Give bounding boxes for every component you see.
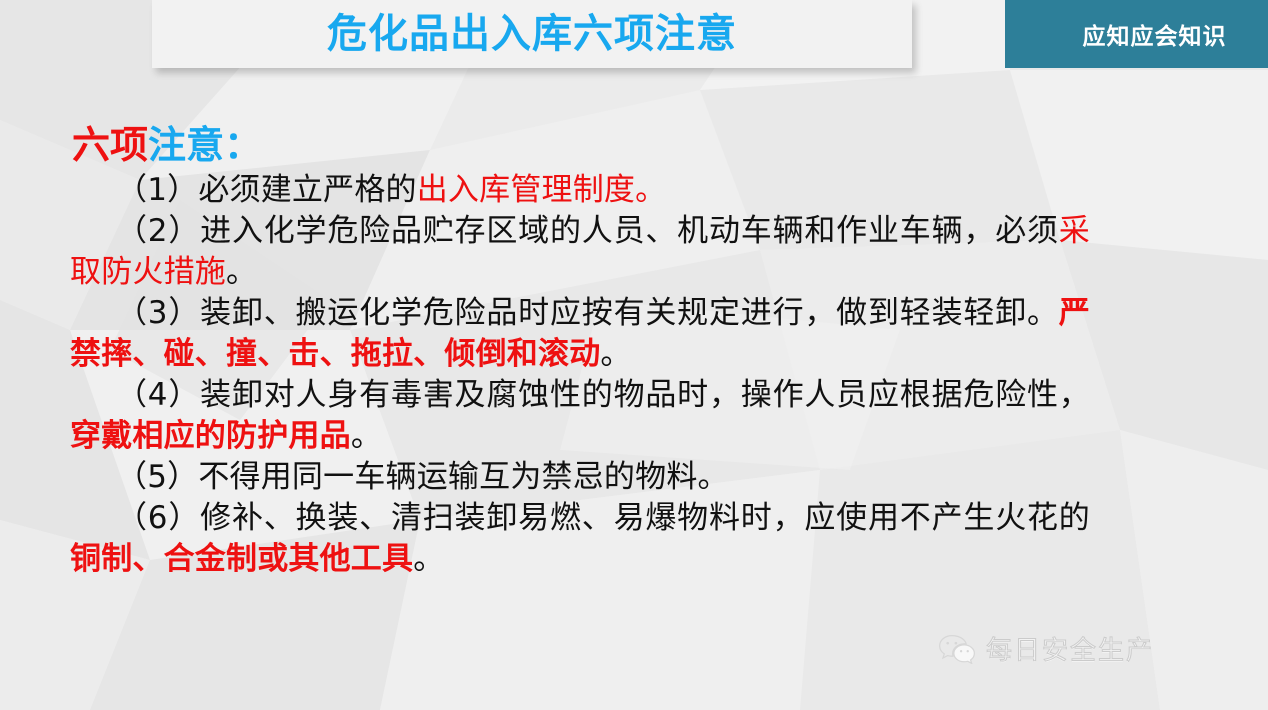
notice-item: （1）必须建立严格的出入库管理制度。 [70,170,1090,211]
section-heading: 六项注意： [72,122,1090,168]
watermark: 每日安全生产 [938,630,1154,667]
notice-item-text: 。 [413,541,444,577]
page-title: 危化品出入库六项注意 [327,14,737,54]
slide-body: 六项注意： （1）必须建立严格的出入库管理制度。（2）进入化学危险品贮存区域的人… [70,122,1090,580]
wechat-icon [938,634,976,664]
notice-item: （4）装卸对人身有毒害及腐蚀性的物品时，操作人员应根据危险性，穿戴相应的防护用品… [70,375,1090,457]
notice-item-number: （5） [116,459,198,495]
notice-item-text: 装卸、搬运化学危险品时应按有关规定进行，做到轻装轻卸。 [200,295,1059,331]
section-heading-blue: 注意： [148,123,262,167]
notice-item-text: 。 [600,336,631,372]
notice-item-text: 出入库管理制度。 [417,172,667,208]
notice-item-text: 装卸对人身有毒害及腐蚀性的物品时，操作人员应根据危险性， [200,377,1090,413]
notice-item-text: 进入化学危险品贮存区域的人员、机动车辆和作业车辆，必须 [200,213,1059,249]
watermark-label: 每日安全生产 [986,630,1154,667]
notice-item-number: （3） [116,295,200,331]
notice-item-number: （2） [116,213,200,249]
notice-item-text: 。 [351,418,382,454]
notice-item-text: 铜制、合金制或其他工具 [70,541,413,577]
notice-item-number: （6） [116,500,200,536]
notice-item: （3）装卸、搬运化学危险品时应按有关规定进行，做到轻装轻卸。严禁摔、碰、撞、击、… [70,293,1090,375]
corner-category-tab: 应知应会知识 [1005,0,1268,68]
notice-item-number: （1） [116,172,198,208]
corner-category-label: 应知应会知识 [1083,17,1227,51]
notice-list: （1）必须建立严格的出入库管理制度。（2）进入化学危险品贮存区域的人员、机动车辆… [70,170,1090,580]
notice-item-text: 修补、换装、清扫装卸易燃、易爆物料时，应使用不产生火花的 [200,500,1090,536]
notice-item-text: 必须建立严格的 [198,172,416,208]
section-heading-red: 六项 [72,123,148,167]
notice-item-text: 不得用同一车辆运输互为禁忌的物料。 [198,459,728,495]
notice-item-number: （4） [116,377,200,413]
notice-item: （2）进入化学危险品贮存区域的人员、机动车辆和作业车辆，必须采取防火措施。 [70,211,1090,293]
slide-canvas: 危化品出入库六项注意 应知应会知识 六项注意： （1）必须建立严格的出入库管理制… [0,0,1268,710]
notice-item: （5）不得用同一车辆运输互为禁忌的物料。 [70,457,1090,498]
notice-item-text: 穿戴相应的防护用品 [70,418,351,454]
notice-item: （6）修补、换装、清扫装卸易燃、易爆物料时，应使用不产生火花的铜制、合金制或其他… [70,498,1090,580]
slide-title-bar: 危化品出入库六项注意 [152,0,912,68]
notice-item-text: 。 [226,254,257,290]
